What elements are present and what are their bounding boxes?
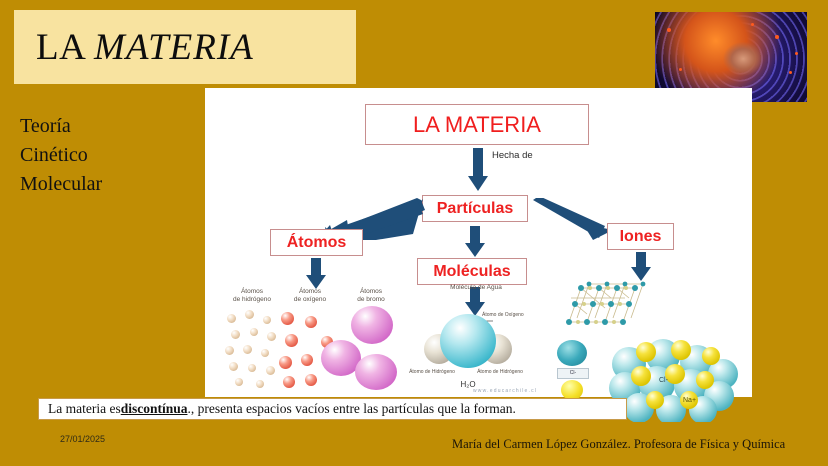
water-molecule-illustration: Molécula de Agua Átomo de Oxígeno Átomo … <box>410 284 542 396</box>
node-moleculas: Moléculas <box>417 258 527 285</box>
caption-before: La materia es <box>48 401 121 417</box>
caption-after: ., presenta espacios vacíos entre las pa… <box>188 401 516 417</box>
title-banner: LA MATERIA <box>14 10 356 84</box>
label-atomo-oxigeno: Átomo de Oxígeno <box>482 312 544 318</box>
label-atomos-bromo: Átomos de bromo <box>341 288 401 304</box>
legend-anion-label: Cl- <box>557 368 589 379</box>
label-atomo-hidrogeno-left: Átomo de Hidrógeno <box>404 369 460 375</box>
slide-canvas: LA MATERIA Teoría Cinético Molecular LA … <box>0 0 828 466</box>
footer-author: María del Carmen López González. Profeso… <box>452 437 785 452</box>
page-title: LA MATERIA <box>14 26 254 69</box>
caption-box: La materia es discontínua., presenta esp… <box>38 398 627 420</box>
legend-cation-sphere <box>561 380 583 400</box>
subtitle-block: Teoría Cinético Molecular <box>20 112 190 199</box>
arrow-particulas-to-moleculas <box>464 226 486 258</box>
legend-anion-sphere <box>557 340 587 366</box>
ions-illustration: Cl- Na+ <box>555 276 745 394</box>
atoms-illustration: Átomos de hidrógeno Átomos de oxígeno Át… <box>223 288 403 393</box>
label-molecula-de-agua: Molécula de Agua <box>426 284 526 292</box>
connector-label-hecha-de: Hecha de <box>492 150 533 161</box>
svg-text:Cl-: Cl- <box>659 377 669 384</box>
subtitle-line-3: Molecular <box>20 170 190 199</box>
watermark-text: www.educarchile.cl <box>473 388 537 394</box>
node-particulas: Partículas <box>422 195 528 222</box>
node-atomos: Átomos <box>270 229 363 256</box>
subtitle-line-2: Cinético <box>20 141 190 170</box>
caption-emphasis: discontínua <box>121 401 188 417</box>
diagram-panel: LA MATERIA Hecha de Partículas Átomos <box>205 88 752 397</box>
arrow-atomos-to-illustration <box>305 258 327 290</box>
label-atomo-hidrogeno-right: Átomo de Hidrógeno <box>472 369 528 375</box>
title-part-la: LA <box>36 27 94 68</box>
arrow-particulas-to-iones <box>531 198 613 240</box>
label-atomos-oxigeno: Átomos de oxígeno <box>279 288 341 304</box>
diagram-canvas: LA MATERIA Hecha de Partículas Átomos <box>205 88 752 397</box>
arrow-root-to-particulas <box>467 148 489 192</box>
footer-date: 27/01/2025 <box>60 434 105 444</box>
subtitle-line-1: Teoría <box>20 112 190 141</box>
node-la-materia: LA MATERIA <box>365 104 589 145</box>
title-part-materia: MATERIA <box>94 27 254 68</box>
label-atomos-hidrogeno: Átomos de hidrógeno <box>219 288 285 304</box>
node-iones: Iones <box>607 223 674 250</box>
svg-text:Na+: Na+ <box>683 397 696 404</box>
